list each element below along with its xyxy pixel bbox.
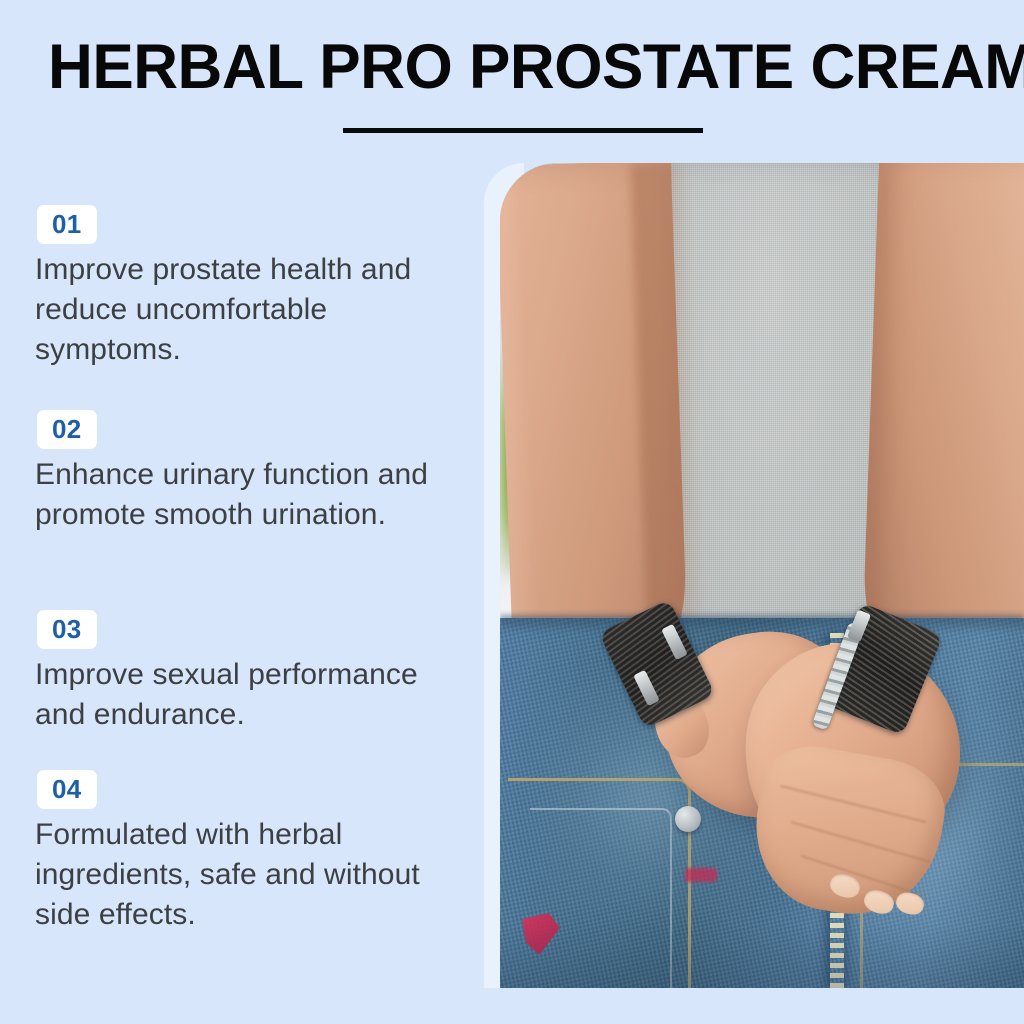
photo-waistband — [500, 615, 1024, 631]
page-title: HERBAL PRO PROSTATE CREAM — [48, 32, 994, 102]
text-wrap-04: Formulated with herbal ingredients, safe… — [0, 815, 470, 935]
feature-number-badge: 01 — [37, 205, 97, 244]
feature-text: Formulated with herbal ingredients, safe… — [33, 815, 470, 935]
badge-wrap-03: 03 — [0, 610, 470, 649]
badge-wrap-04: 04 — [0, 770, 470, 809]
text-wrap-01: Improve prostate health and reduce uncom… — [0, 250, 470, 370]
badge-wrap-02: 02 — [0, 410, 470, 449]
text-wrap-02: Enhance urinary function and promote smo… — [0, 455, 470, 535]
feature-item-04: 04 Formulated with herbal ingredients, s… — [0, 770, 470, 935]
text-wrap-03: Improve sexual performance and endurance… — [0, 655, 470, 735]
feature-number-badge: 04 — [37, 770, 97, 809]
feature-item-01: 01 Improve prostate health and reduce un… — [0, 205, 470, 370]
photo-denim-button — [675, 806, 701, 832]
feature-number-badge: 02 — [37, 410, 97, 449]
feature-item-02: 02 Enhance urinary function and promote … — [0, 410, 470, 535]
feature-number-badge: 03 — [37, 610, 97, 649]
title-divider — [343, 128, 703, 133]
poster-root: HERBAL PRO PROSTATE CREAM 01 Improve pro… — [0, 0, 1024, 1024]
product-photo — [500, 163, 1024, 988]
badge-wrap-01: 01 — [0, 205, 470, 244]
feature-text: Improve sexual performance and endurance… — [33, 655, 470, 735]
photo-bottom-shadow — [500, 923, 1024, 988]
photo-red-tag — [685, 868, 717, 882]
feature-item-03: 03 Improve sexual performance and endura… — [0, 610, 470, 735]
feature-text: Improve prostate health and reduce uncom… — [33, 250, 470, 370]
title-block: HERBAL PRO PROSTATE CREAM — [0, 0, 1024, 150]
feature-text: Enhance urinary function and promote smo… — [33, 455, 470, 535]
